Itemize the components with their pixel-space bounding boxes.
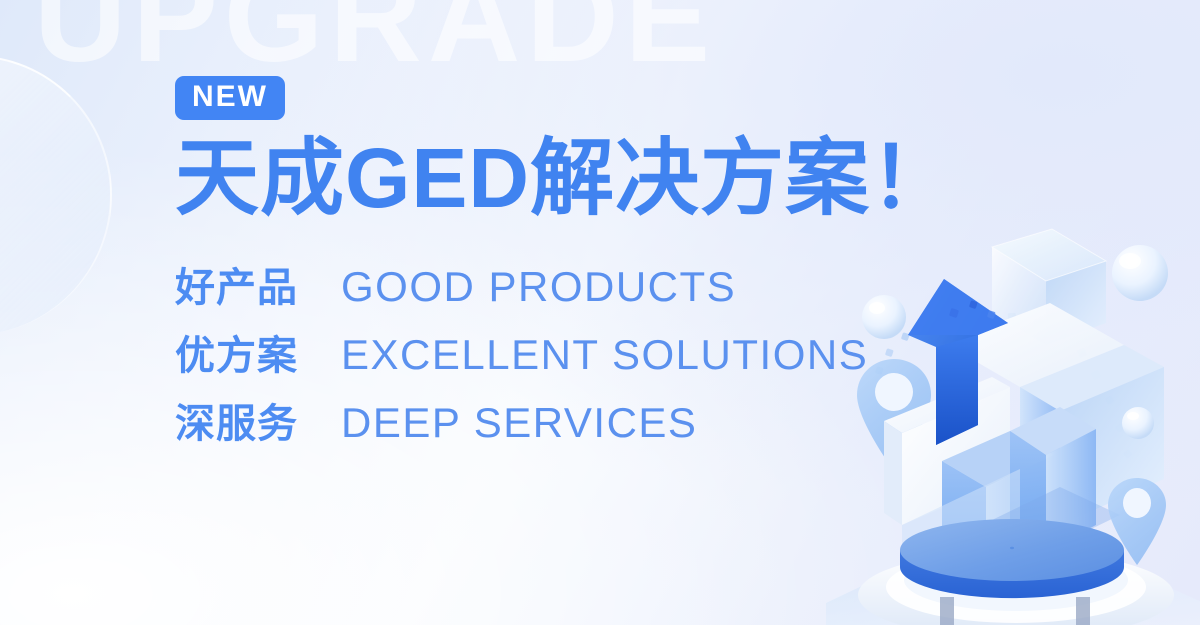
glossy-sphere-icon: [1112, 245, 1168, 301]
page-title: 天成GED解决方案！: [175, 134, 875, 223]
feature-label-en: GOOD PRODUCTS: [341, 263, 736, 311]
watermark-upgrade-text: UPGRADE: [34, 0, 716, 82]
list-item: 优方案 EXCELLENT SOLUTIONS: [175, 323, 875, 391]
feature-label-cn: 优方案: [175, 323, 341, 381]
glossy-sphere-right-icon: [1122, 407, 1154, 439]
feature-label-cn: 深服务: [175, 391, 341, 449]
feature-label-en: DEEP SERVICES: [341, 399, 697, 447]
decorative-circle: [0, 55, 112, 335]
hero-illustration: [824, 225, 1200, 625]
new-badge: NEW: [175, 76, 285, 120]
list-item: 深服务 DEEP SERVICES: [175, 391, 875, 459]
text-content-block: NEW 天成GED解决方案！ 好产品 GOOD PRODUCTS 优方案 EXC…: [175, 76, 875, 459]
promo-banner: UPGRADE NEW 天成GED解决方案！ 好产品 GOOD PRODUCTS…: [0, 0, 1200, 625]
feature-list: 好产品 GOOD PRODUCTS 优方案 EXCELLENT SOLUTION…: [175, 255, 875, 459]
list-item: 好产品 GOOD PRODUCTS: [175, 255, 875, 323]
feature-label-cn: 好产品: [175, 255, 341, 313]
feature-label-en: EXCELLENT SOLUTIONS: [341, 331, 868, 379]
glossy-sphere-small-icon: [862, 295, 906, 339]
